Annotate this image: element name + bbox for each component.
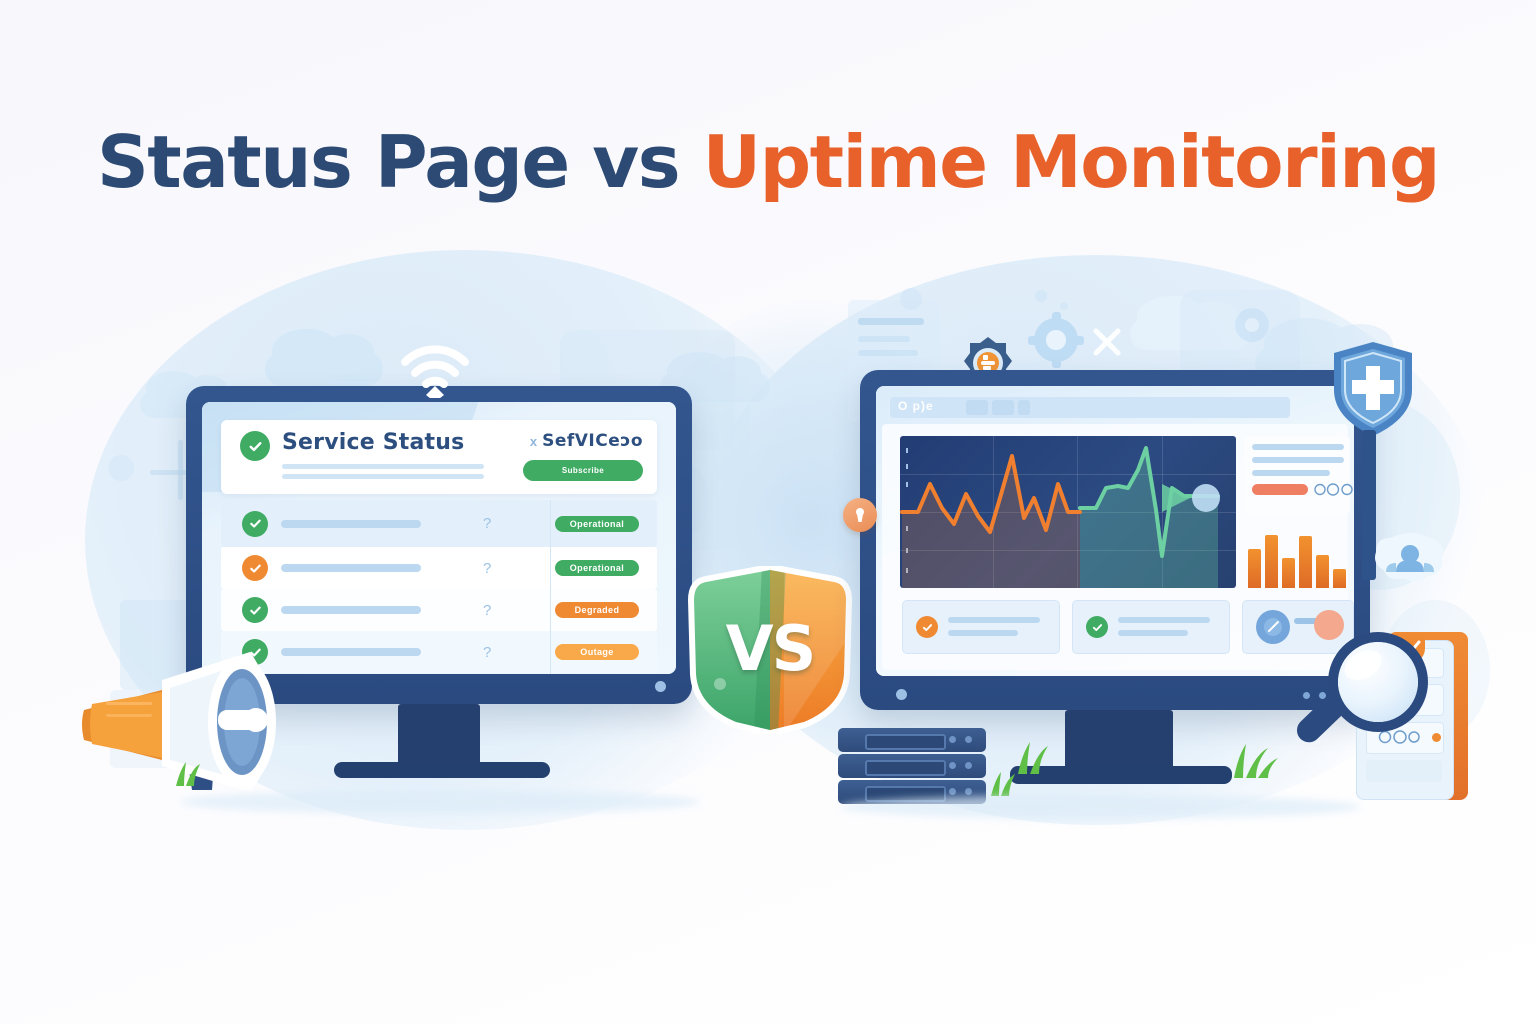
bg-shape (108, 455, 134, 481)
left-monitor-neck (398, 704, 480, 766)
url-chip[interactable] (966, 400, 988, 415)
lock-icon (843, 498, 877, 532)
table-row-content[interactable]: ? Degraded (221, 589, 657, 631)
browser-bar[interactable] (890, 397, 1290, 418)
bg-shape (1060, 302, 1068, 310)
check-circle-icon (240, 431, 270, 461)
column-divider (550, 500, 551, 674)
check-circle-icon (916, 616, 938, 638)
stat-line (948, 617, 1040, 623)
row-label-skeleton (281, 564, 421, 572)
status-badge: Outage (555, 644, 639, 660)
ground-shadow (840, 795, 1360, 819)
service-status-title: Service Status (282, 430, 507, 455)
bg-shape (858, 318, 924, 325)
brand-logo-text: SefVICeɔo (542, 431, 643, 451)
title-part-dark: Status Page vs (97, 120, 703, 204)
traffic-bar-chart (1244, 520, 1350, 588)
status-badge: Operational (555, 560, 639, 576)
row-meta: ? (483, 560, 491, 577)
stat-line (1118, 630, 1188, 636)
stat-line (948, 630, 1018, 636)
alert-pill (1252, 484, 1308, 495)
left-monitor-base (334, 762, 550, 778)
browser-tab-label: O p)e (898, 399, 934, 413)
ground-shadow (180, 790, 700, 814)
check-circle-icon (242, 597, 268, 623)
server-unit (838, 728, 986, 752)
grass-decor (1228, 742, 1282, 778)
service-status-header-card: Service Status x SefVICeɔo Subscribe (221, 420, 657, 494)
vs-label: VS (684, 566, 856, 734)
row-meta: ? (483, 644, 491, 661)
cloud-icon (265, 352, 383, 386)
bg-shape (690, 400, 750, 550)
check-circle-icon (242, 511, 268, 537)
gauge-icon (1256, 610, 1290, 644)
header-skeleton-line (282, 474, 484, 479)
list-line (1252, 444, 1344, 450)
check-circle-icon (242, 555, 268, 581)
grass-decor (1012, 740, 1056, 774)
wifi-icon (398, 340, 472, 398)
table-row-content[interactable]: ? Operational (221, 547, 657, 589)
url-chip[interactable] (992, 400, 1014, 415)
row-label-skeleton (281, 606, 421, 614)
header-skeleton-line (282, 464, 484, 469)
list-line (1252, 470, 1330, 476)
right-monitor-camera (896, 689, 907, 700)
right-monitor-neck (1065, 710, 1173, 772)
bg-shape (1035, 290, 1047, 302)
subscribe-button[interactable]: Subscribe (523, 460, 643, 481)
uptime-line-chart (900, 436, 1236, 588)
illustration-stage: Status Page vs Uptime Monitoring (0, 0, 1536, 1024)
row-meta: ? (483, 602, 491, 619)
bg-shape (858, 336, 910, 342)
row-meta: ? (483, 515, 491, 532)
row-label-skeleton (281, 520, 421, 528)
gear-icon (1034, 318, 1078, 362)
gear-icon (1235, 308, 1269, 342)
magnifier-icon (1290, 620, 1460, 800)
check-circle-icon (1086, 616, 1108, 638)
bg-shape (178, 440, 183, 500)
status-badge: Operational (555, 516, 639, 532)
close-icon (1090, 325, 1124, 359)
status-badge: Degraded (555, 602, 639, 618)
vs-badge: VS (684, 566, 856, 734)
users-icon (1372, 530, 1448, 592)
page-title: Status Page vs Uptime Monitoring (0, 120, 1536, 204)
left-monitor-camera (655, 681, 666, 692)
list-line (1252, 457, 1344, 463)
left-monitor-screen: Service Status x SefVICeɔo Subscribe (202, 402, 676, 674)
right-monitor-screen: O p)e (876, 386, 1354, 676)
server-unit (838, 754, 986, 778)
shield-health-icon (1330, 340, 1416, 440)
bg-shape (900, 288, 922, 310)
stat-line (1118, 617, 1210, 623)
table-row-content[interactable]: ? Operational (221, 500, 657, 547)
url-chip[interactable] (1018, 400, 1030, 415)
circle-outline-icon[interactable] (1314, 483, 1354, 496)
title-part-orange: Uptime Monitoring (703, 120, 1439, 204)
brand-x-mark: x (530, 434, 537, 449)
grass-decor (170, 760, 214, 786)
bg-shape (858, 350, 918, 356)
